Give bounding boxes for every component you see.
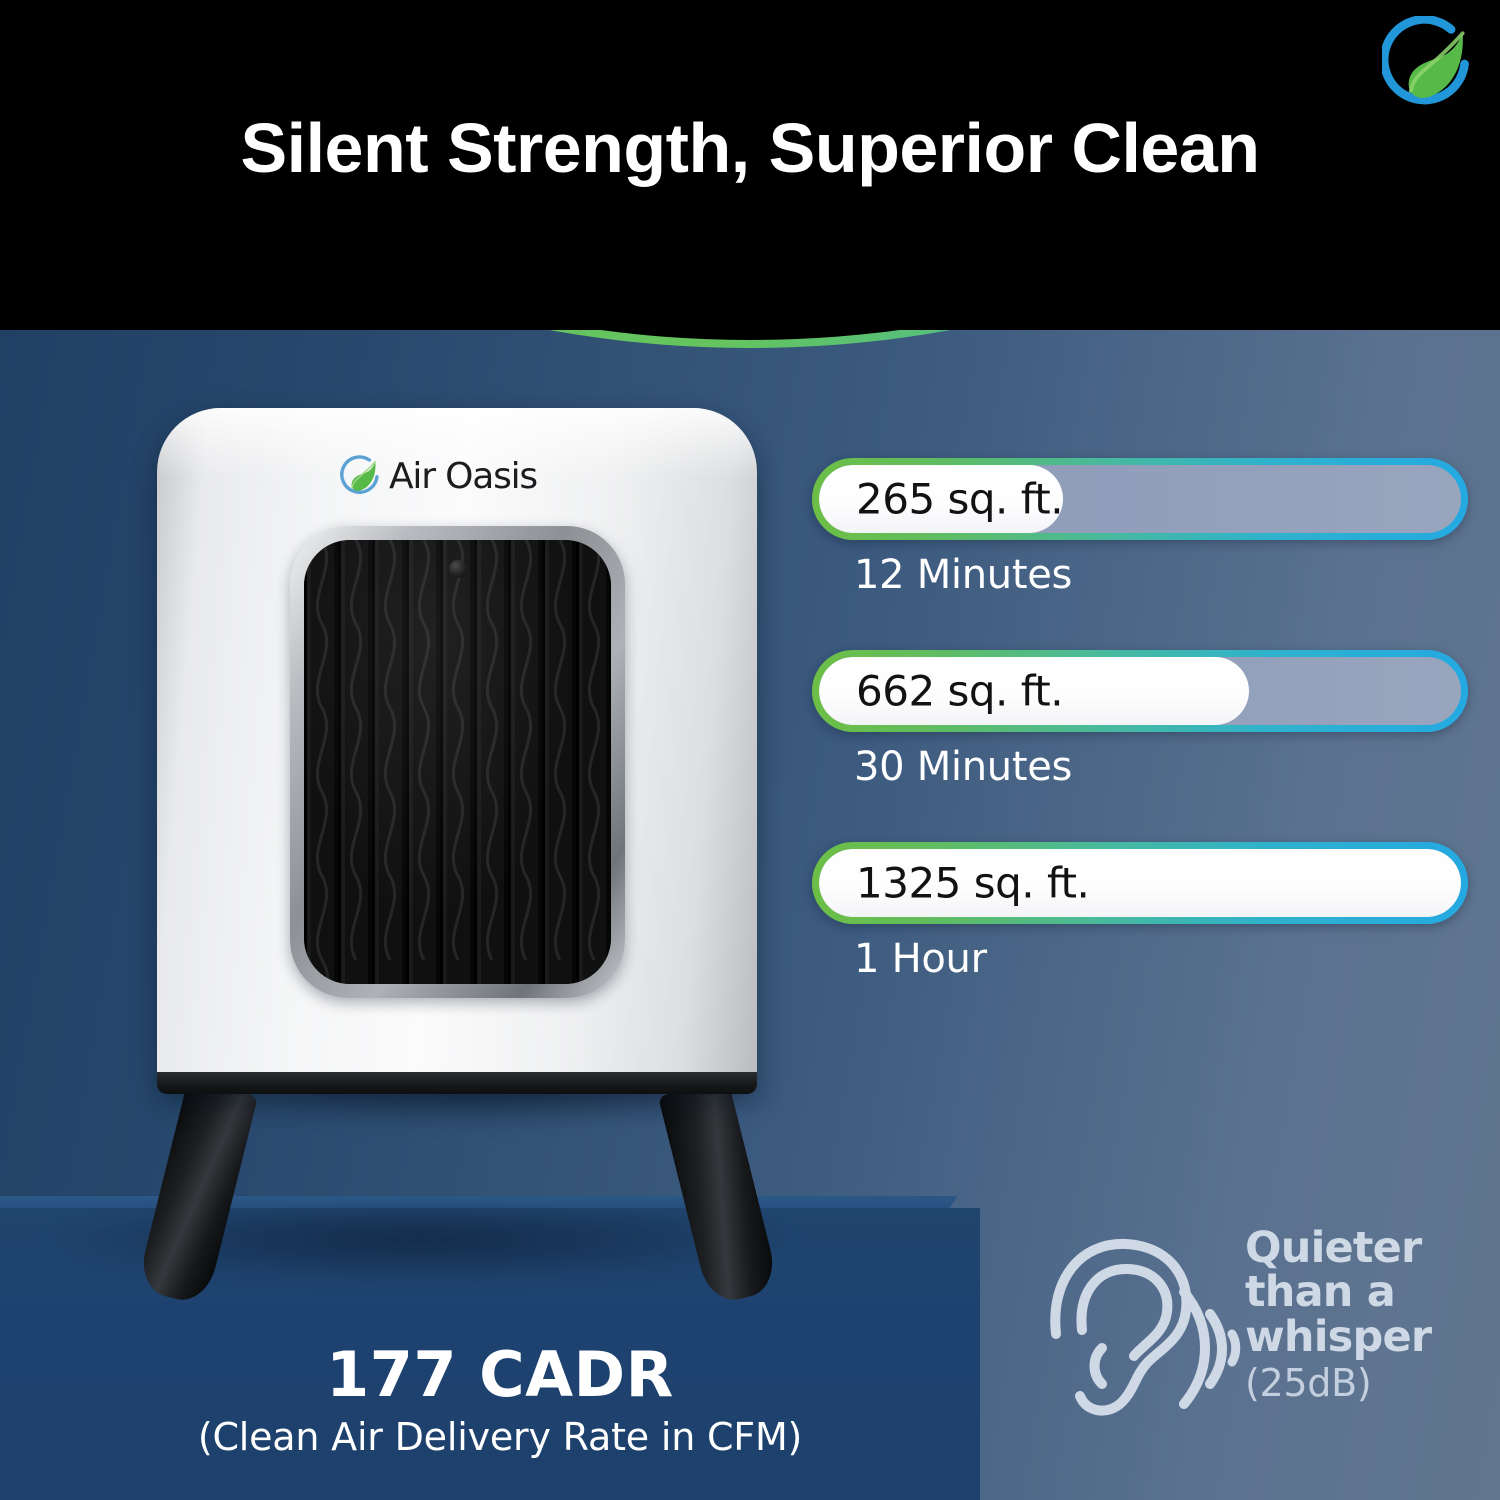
ear-sound-icon [1030, 1222, 1245, 1447]
product-brand-name: Air Oasis [389, 456, 537, 497]
cadr-note: (Clean Air Delivery Rate in CFM) [50, 1415, 950, 1459]
quiet-text-block: Quieter than a whisper (25dB) [1245, 1222, 1431, 1405]
bar-value-label: 265 sq. ft. [856, 475, 1063, 524]
grille-highlight [304, 540, 611, 984]
page-title: Silent Strength, Superior Clean [0, 112, 1500, 186]
product-leg-left [136, 1079, 258, 1306]
bar-time-label: 30 Minutes [812, 744, 1472, 790]
quiet-line-1: Quieter [1245, 1226, 1431, 1270]
bar-time-label: 12 Minutes [812, 552, 1472, 598]
quiet-block: Quieter than a whisper (25dB) [1030, 1222, 1480, 1462]
power-button-icon[interactable] [449, 560, 467, 578]
quiet-line-2: than a [1245, 1270, 1431, 1314]
bar-value-label: 662 sq. ft. [856, 667, 1063, 716]
coverage-bar: 662 sq. ft. [812, 650, 1468, 732]
coverage-stats: 265 sq. ft. 12 Minutes 662 sq. ft. 30 Mi… [812, 458, 1472, 982]
infographic-canvas: Silent Strength, Superior Clean Air Oasi [0, 0, 1500, 1500]
stat-row: 265 sq. ft. 12 Minutes [812, 458, 1472, 598]
cadr-block: 177 CADR (Clean Air Delivery Rate in CFM… [50, 1338, 950, 1459]
leaf-circle-icon [1382, 16, 1478, 112]
leaf-circle-icon [340, 455, 382, 497]
bar-value-label: 1325 sq. ft. [856, 859, 1089, 908]
product-grille-bezel [290, 526, 625, 998]
stat-row: 1325 sq. ft. 1 Hour [812, 842, 1472, 982]
coverage-bar: 1325 sq. ft. [812, 842, 1468, 924]
quiet-line-3: whisper [1245, 1315, 1431, 1359]
product-base-trim [157, 1072, 757, 1094]
product-brand-logo: Air Oasis [340, 452, 576, 500]
product-grille [304, 540, 611, 984]
cadr-value: 177 CADR [50, 1338, 950, 1411]
stat-row: 662 sq. ft. 30 Minutes [812, 650, 1472, 790]
coverage-bar: 265 sq. ft. [812, 458, 1468, 540]
product-image: Air Oasis [95, 400, 855, 1300]
bar-time-label: 1 Hour [812, 936, 1472, 982]
header-band: Silent Strength, Superior Clean [0, 0, 1500, 330]
quiet-decibels: (25dB) [1245, 1361, 1431, 1405]
